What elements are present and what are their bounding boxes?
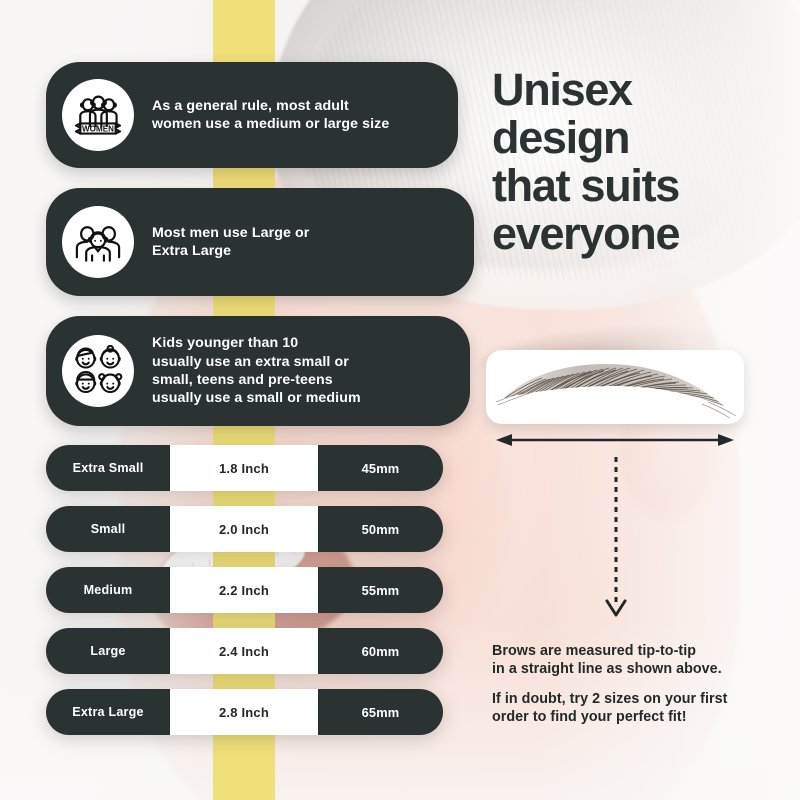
size-mm: 60mm — [318, 628, 443, 674]
dashed-down-arrow — [596, 455, 636, 625]
eyebrow-product-card — [486, 350, 744, 424]
kids-group-icon — [70, 343, 126, 399]
kids-group-icon-badge — [62, 335, 134, 407]
men-group-icon — [71, 215, 125, 269]
arrow-down-dashed-icon — [596, 455, 636, 625]
size-name: Medium — [46, 567, 170, 613]
table-row: Small 2.0 Inch 50mm — [46, 506, 443, 552]
infographic-canvas: WOMEN As a general rule, most adult wome… — [0, 0, 800, 800]
size-mm: 55mm — [318, 567, 443, 613]
size-name: Large — [46, 628, 170, 674]
size-inch: 2.2 Inch — [170, 567, 318, 613]
size-name: Small — [46, 506, 170, 552]
info-card-kids: Kids younger than 10 usually use an extr… — [46, 316, 470, 426]
measure-note: Brows are measured tip-to-tip in a strai… — [492, 642, 792, 678]
table-row: Large 2.4 Inch 60mm — [46, 628, 443, 674]
women-group-icon: WOMEN — [71, 88, 125, 142]
table-row: Extra Small 1.8 Inch 45mm — [46, 445, 443, 491]
size-name: Extra Small — [46, 445, 170, 491]
size-inch: 1.8 Inch — [170, 445, 318, 491]
info-card-women-text: As a general rule, most adult women use … — [152, 97, 389, 134]
size-inch: 2.0 Inch — [170, 506, 318, 552]
info-card-men: Most men use Large or Extra Large — [46, 188, 474, 296]
size-mm: 50mm — [318, 506, 443, 552]
table-row: Extra Large 2.8 Inch 65mm — [46, 689, 443, 735]
table-row: Medium 2.2 Inch 55mm — [46, 567, 443, 613]
men-group-icon-badge — [62, 206, 134, 278]
size-mm: 65mm — [318, 689, 443, 735]
women-banner-text: WOMEN — [82, 124, 114, 133]
size-inch: 2.8 Inch — [170, 689, 318, 735]
eyebrow-product-image — [486, 350, 744, 424]
info-card-men-text: Most men use Large or Extra Large — [152, 224, 309, 261]
measure-arrow-icon — [496, 430, 734, 450]
size-mm: 45mm — [318, 445, 443, 491]
size-name: Extra Large — [46, 689, 170, 735]
women-group-icon-badge: WOMEN — [62, 79, 134, 151]
info-card-kids-text: Kids younger than 10 usually use an extr… — [152, 334, 361, 408]
sizing-advice-note: If in doubt, try 2 sizes on your first o… — [492, 690, 792, 726]
info-card-women: WOMEN As a general rule, most adult wome… — [46, 62, 458, 168]
size-inch: 2.4 Inch — [170, 628, 318, 674]
tip-to-tip-measure-arrow — [496, 430, 734, 450]
page-title: Unisex design that suits everyone — [492, 66, 792, 259]
